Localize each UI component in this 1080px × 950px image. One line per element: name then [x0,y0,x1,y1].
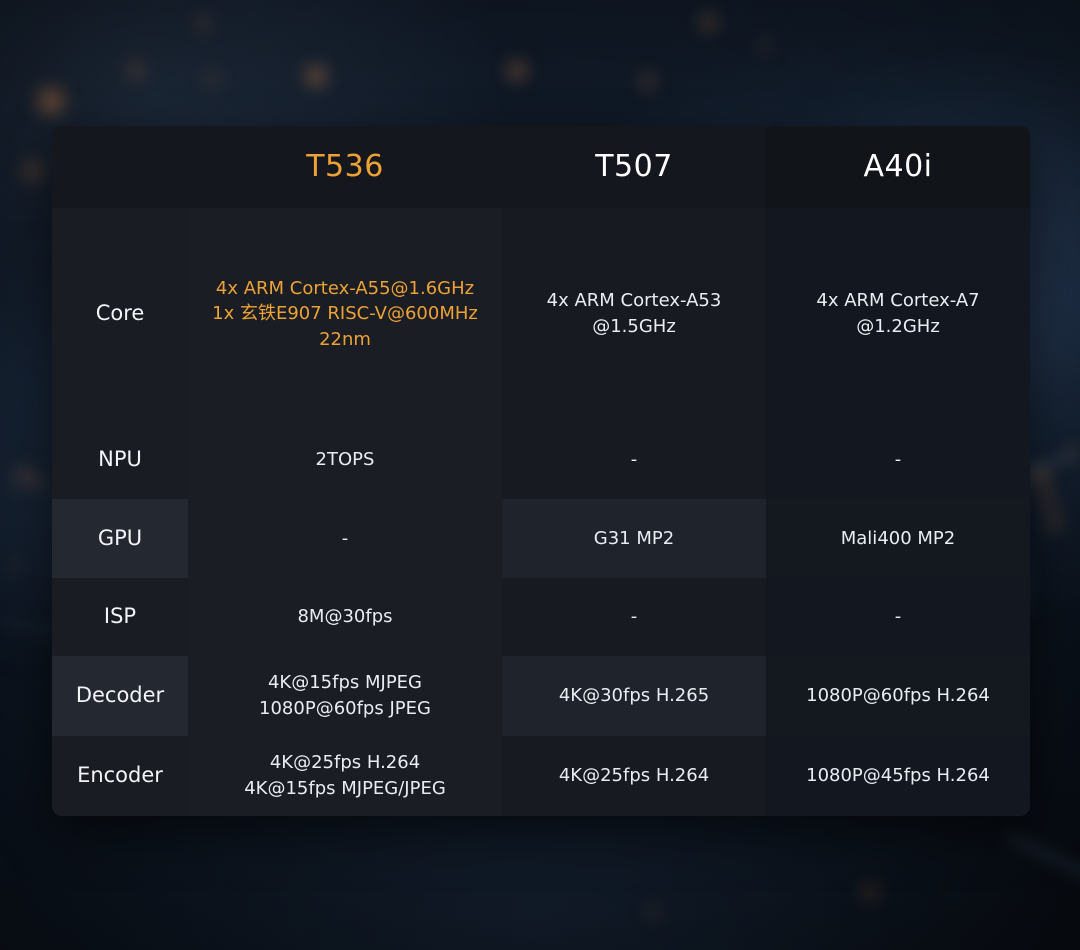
cell-line: 22nm [212,327,478,353]
cell-core-t507: 4x ARM Cortex-A53 @1.5GHz [502,208,766,420]
cell-line: 4x ARM Cortex-A53 [547,288,722,314]
cell-encoder-t507: 4K@25fps H.264 [502,736,766,816]
table-row: Core 4x ARM Cortex-A55@1.6GHz 1x 玄铁E907 … [52,208,1030,420]
bokeh-light [1034,470,1048,484]
bokeh-light [36,478,49,491]
row-label-encoder: Encoder [52,736,188,816]
bokeh-light [646,906,659,919]
cell-core-a40i: 4x ARM Cortex-A7 @1.2GHz [766,208,1030,420]
cell-encoder-a40i: 1080P@45fps H.264 [766,736,1030,816]
table-header-row: T536 T507 A40i [52,126,1030,208]
table-row: NPU 2TOPS - - [52,420,1030,499]
cell-isp-a40i: - [766,578,1030,656]
light-streak [1004,832,1080,886]
cell-line: 4K@15fps MJPEG [259,670,431,696]
cell-npu-a40i: - [766,420,1030,499]
cell-line: 1080P@60fps JPEG [259,696,431,722]
bokeh-light [306,66,326,86]
bokeh-light [1042,494,1054,506]
bokeh-light [1048,516,1060,528]
cell-line: 4K@25fps H.264 [244,750,446,776]
cell-isp-t507: - [502,578,766,656]
column-header-t507[interactable]: T507 [502,126,766,208]
bokeh-light [508,62,526,80]
cell-decoder-t536: 4K@15fps MJPEG 1080P@60fps JPEG [188,656,502,736]
bokeh-light [640,74,655,89]
row-label-gpu: GPU [52,499,188,578]
cell-npu-t507: - [502,420,766,499]
header-cell-blank [52,126,188,208]
cell-encoder-t536: 4K@25fps H.264 4K@15fps MJPEG/JPEG [188,736,502,816]
bokeh-light [196,16,210,30]
cell-npu-t536: 2TOPS [188,420,502,499]
column-header-a40i[interactable]: A40i [766,126,1030,208]
table-row: Encoder 4K@25fps H.264 4K@15fps MJPEG/JP… [52,736,1030,816]
light-streak [0,618,60,635]
cell-line: 4x ARM Cortex-A55@1.6GHz [212,276,478,302]
row-label-isp: ISP [52,578,188,656]
bokeh-light [206,72,219,85]
cell-isp-t536: 8M@30fps [188,578,502,656]
cell-gpu-t536: - [188,499,502,578]
cell-line: 4x ARM Cortex-A7 [816,288,979,314]
cell-decoder-t507: 4K@30fps H.265 [502,656,766,736]
cell-decoder-a40i: 1080P@60fps H.264 [766,656,1030,736]
cell-line: 1x 玄铁E907 RISC-V@600MHz [212,301,478,327]
cell-line: @1.2GHz [816,314,979,340]
column-header-t536[interactable]: T536 [188,126,502,208]
bokeh-light [862,884,878,900]
cell-line: @1.5GHz [547,314,722,340]
bokeh-light [760,40,772,52]
row-label-npu: NPU [52,420,188,499]
row-label-decoder: Decoder [52,656,188,736]
cell-core-t536: 4x ARM Cortex-A55@1.6GHz 1x 玄铁E907 RISC-… [188,208,502,420]
row-label-core: Core [52,208,188,420]
bokeh-light [16,468,35,487]
bokeh-light [700,14,717,31]
bokeh-light [128,62,144,78]
bokeh-light [38,88,64,114]
bokeh-light [10,560,21,571]
table-row: ISP 8M@30fps - - [52,578,1030,656]
cell-gpu-t507: G31 MP2 [502,499,766,578]
cell-gpu-a40i: Mali400 MP2 [766,499,1030,578]
table-row: GPU - G31 MP2 Mali400 MP2 [52,499,1030,578]
spec-comparison-table: T536 T507 A40i Core 4x ARM Cortex-A55@1.… [52,126,1030,816]
bokeh-light [1066,448,1076,458]
cell-line: 4K@15fps MJPEG/JPEG [244,776,446,802]
table-row: Decoder 4K@15fps MJPEG 1080P@60fps JPEG … [52,656,1030,736]
bokeh-light [22,160,44,182]
